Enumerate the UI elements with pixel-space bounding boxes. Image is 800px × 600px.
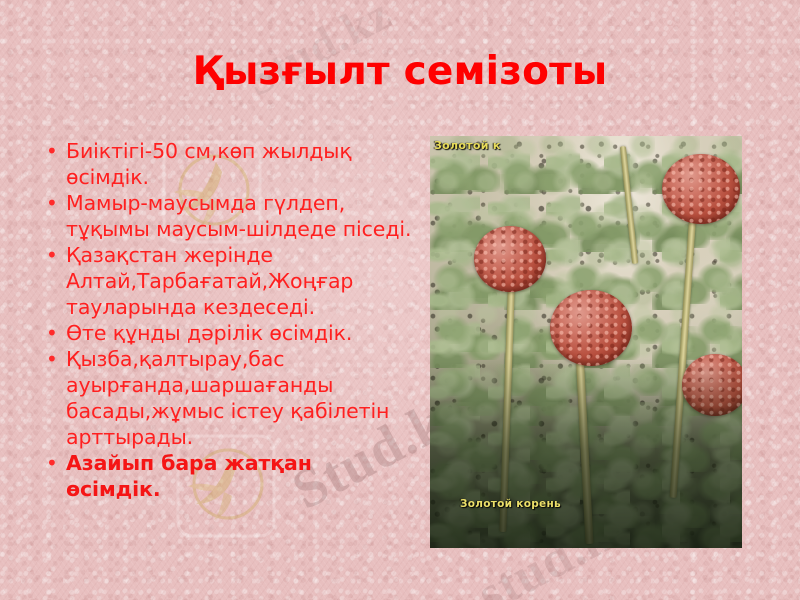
photo-caption-top: Золотой к [434,139,501,152]
page-title: Қызғылт семізоты [0,52,800,93]
list-item-text: Азайып бара жатқан өсімдік. [66,450,412,502]
plant-photo: Золотой к Золотой корень [430,136,742,548]
list-item: • Мамыр-маусымда гүлдеп, тұқымы маусым-ш… [38,190,412,242]
photo-caption-bottom: Золотой корень [460,498,561,510]
list-item-text: Қазақстан жерінде Алтай,Тарбағатай,Жоңға… [66,242,412,320]
bullet-marker: • [38,320,66,346]
bullet-list: • Биіктігі-50 см,көп жылдық өсімдік. • М… [38,138,412,502]
bullet-marker: • [38,346,66,372]
list-item-text: Биіктігі-50 см,көп жылдық өсімдік. [66,138,412,190]
list-item: • Биіктігі-50 см,көп жылдық өсімдік. [38,138,412,190]
list-item: • Қазақстан жерінде Алтай,Тарбағатай,Жоң… [38,242,412,320]
bullet-marker: • [38,138,66,164]
photo-shadow-layer [430,136,742,548]
presentation-slide: Stud.kz Stud.kz stud.kz Stud.kz Қызғылт … [0,0,800,600]
bullet-marker: • [38,450,66,476]
photo-caption-top-clip: Золотой к [430,136,554,156]
list-item-text: Мамыр-маусымда гүлдеп, тұқымы маусым-шіл… [66,190,412,242]
list-item-text: Қызба,қалтырау,бас ауырғанда,шаршағанды … [66,346,412,450]
bullet-marker: • [38,190,66,216]
list-item: • Азайып бара жатқан өсімдік. [38,450,412,502]
list-item-text: Өте құнды дәрілік өсімдік. [66,320,412,346]
list-item: • Қызба,қалтырау,бас ауырғанда,шаршағанд… [38,346,412,450]
bullet-marker: • [38,242,66,268]
list-item: • Өте құнды дәрілік өсімдік. [38,320,412,346]
